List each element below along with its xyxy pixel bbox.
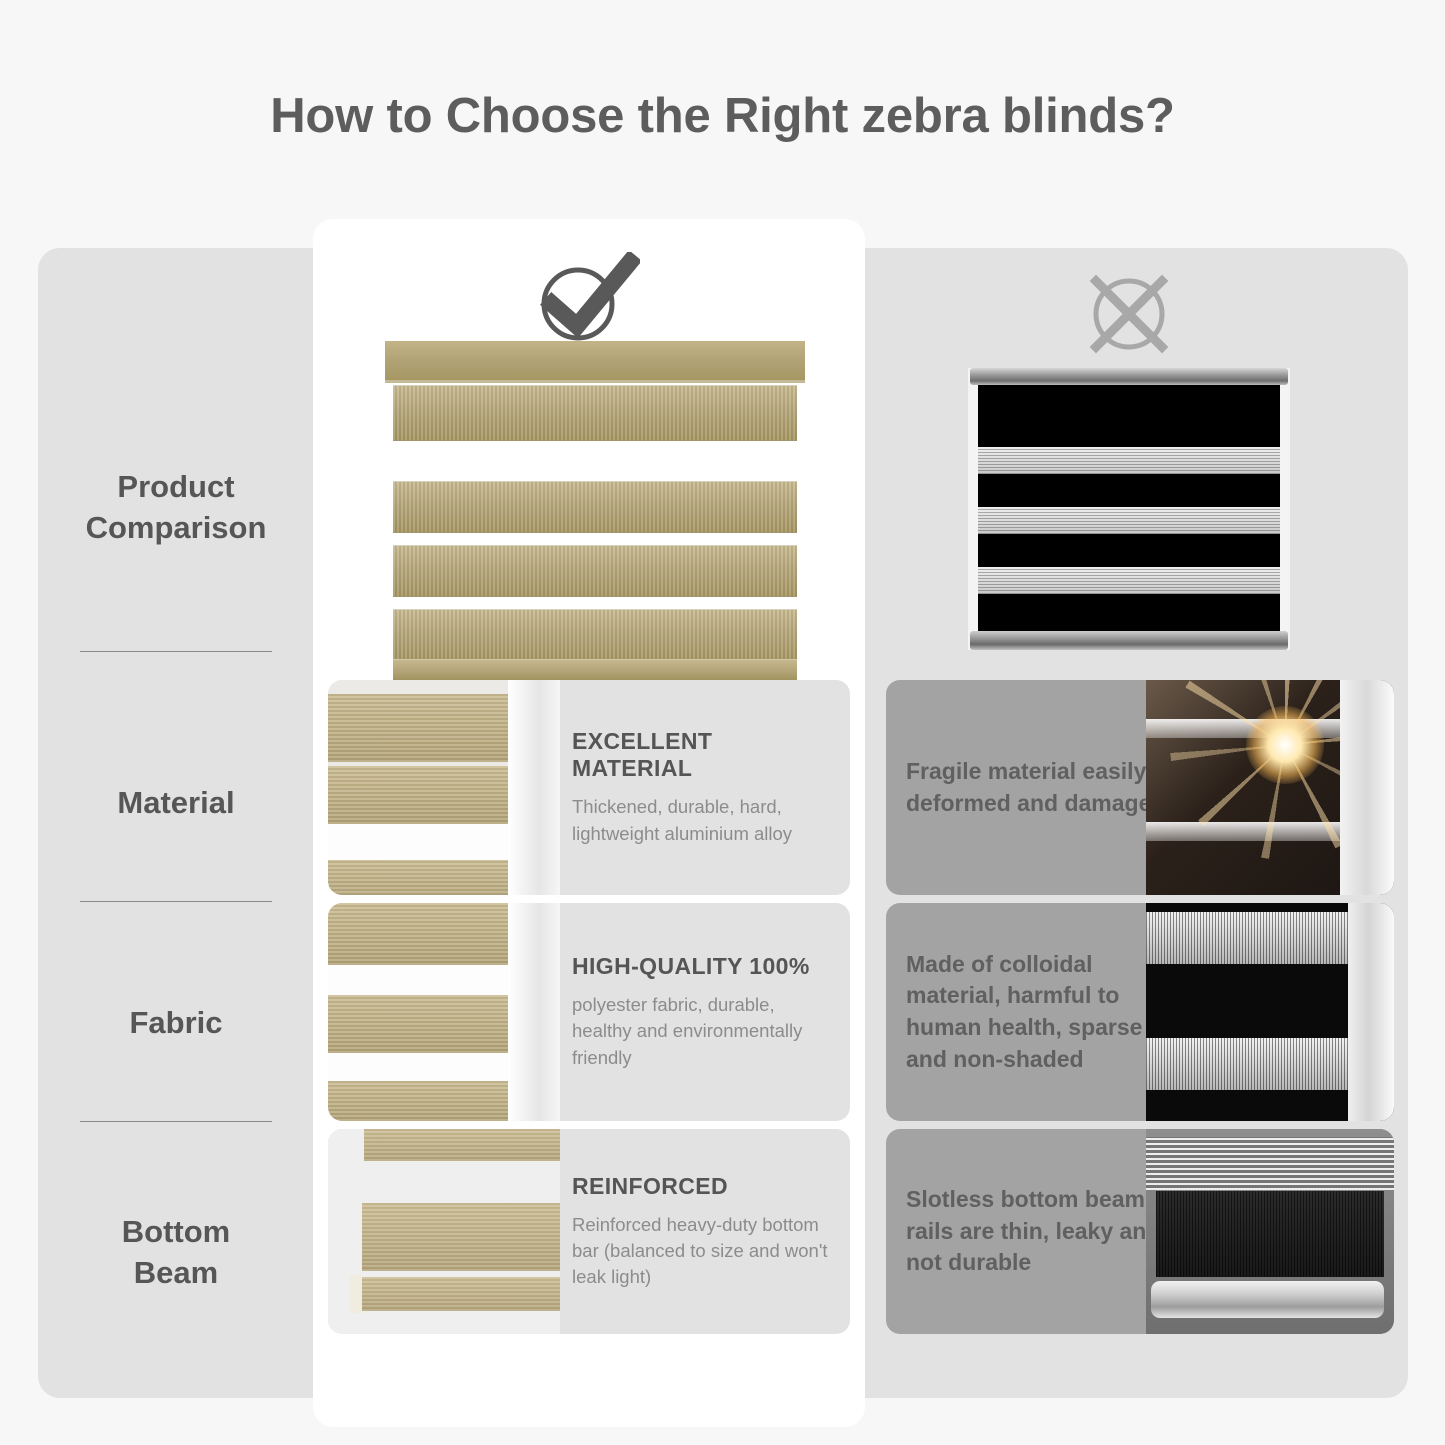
feature-body: Thickened, durable, hard, lightweight al…: [572, 794, 836, 847]
blind-slat: [328, 995, 514, 1053]
row-divider: [80, 1121, 272, 1122]
row-divider: [80, 651, 272, 652]
row-label-column: Product Comparison Material Fabric Botto…: [38, 248, 314, 1398]
window-scene: [328, 680, 560, 895]
good-bottom-beam-image: [328, 1129, 560, 1334]
good-feature-material: EXCELLENT MATERIAL Thickened, durable, h…: [328, 680, 850, 895]
good-bottom-beam-text: REINFORCED Reinforced heavy-duty bottom …: [572, 1129, 836, 1334]
blind-headrail: [970, 368, 1288, 385]
row-label-line1: Product: [86, 467, 267, 508]
blind-fabric-body: [1156, 1191, 1384, 1277]
blind-slat: [328, 1081, 514, 1121]
cross-circle-icon: [1082, 268, 1177, 360]
blind-slat: [362, 1203, 560, 1271]
row-label-bottom-beam: Bottom Beam: [38, 1178, 314, 1328]
sheer-gap: [328, 1053, 518, 1081]
bad-fabric-text: Made of colloidal material, harmful to h…: [906, 903, 1176, 1121]
feature-heading: REINFORCED: [572, 1173, 836, 1200]
sun-flare-scene: [1146, 680, 1394, 895]
feature-heading: HIGH-QUALITY 100%: [572, 953, 836, 980]
bottom-bar-scene: [328, 1129, 560, 1334]
bad-material-image: [1146, 680, 1394, 895]
thin-rail-scene: [1146, 1129, 1394, 1334]
blind-headrail: [385, 341, 805, 383]
bad-bottom-beam-image: [1146, 1129, 1394, 1334]
bad-feature-material: Fragile material easily deformed and dam…: [886, 680, 1394, 895]
sheer-fabric-scene: [1146, 903, 1394, 1121]
row-divider: [80, 901, 272, 902]
good-hero-blind-image: [385, 341, 805, 673]
good-feature-fabric: HIGH-QUALITY 100% polyester fabric, dura…: [328, 903, 850, 1121]
bad-material-text: Fragile material easily deformed and dam…: [906, 680, 1176, 895]
bottom-bar-end-cap: [350, 1275, 362, 1313]
blind-slat: [328, 903, 514, 965]
row-label-line2: Beam: [122, 1253, 230, 1294]
sun-core-icon: [1246, 706, 1324, 784]
row-label-line2: Comparison: [86, 508, 267, 549]
row-label-fabric: Fabric: [38, 968, 314, 1078]
window-frame: [508, 680, 560, 895]
feature-body: polyester fabric, durable, healthy and e…: [572, 992, 836, 1071]
blind-slat: [393, 609, 797, 661]
bad-fabric-image: [1146, 903, 1394, 1121]
row-label-line1: Bottom: [122, 1212, 230, 1253]
blind-bottom-bar: [358, 1277, 560, 1311]
sheer-gap: [328, 824, 518, 860]
bad-bottom-beam-text: Slotless bottom beam rails are thin, lea…: [906, 1129, 1176, 1334]
blind-slat: [328, 766, 514, 824]
blind-slat: [328, 860, 514, 895]
blind-fabric-body: [978, 385, 1280, 631]
sheer-stripe: [978, 567, 1280, 594]
feature-heading: EXCELLENT MATERIAL: [572, 728, 836, 782]
window-scene: [328, 903, 560, 1121]
good-fabric-image: [328, 903, 560, 1121]
bad-feature-fabric: Made of colloidal material, harmful to h…: [886, 903, 1394, 1121]
good-fabric-text: HIGH-QUALITY 100% polyester fabric, dura…: [572, 903, 836, 1121]
blind-slat: [393, 481, 797, 533]
infographic-page: How to Choose the Right zebra blinds? Pr…: [0, 0, 1445, 1445]
row-label-material: Material: [38, 748, 314, 858]
check-circle-icon: [530, 252, 640, 347]
row-label-product-comparison: Product Comparison: [38, 418, 314, 598]
feature-body: Reinforced heavy-duty bottom bar (balanc…: [572, 1212, 836, 1291]
bad-feature-bottom-beam: Slotless bottom beam rails are thin, lea…: [886, 1129, 1394, 1334]
window-frame: [1340, 680, 1394, 895]
blind-slat: [328, 694, 514, 762]
blind-slat: [393, 385, 797, 441]
sheer-stripe: [978, 447, 1280, 474]
blind-bottom-bar: [393, 659, 797, 681]
good-material-text: EXCELLENT MATERIAL Thickened, durable, h…: [572, 680, 836, 895]
blind-bottom-rail: [1151, 1281, 1384, 1318]
window-frame: [1348, 903, 1394, 1121]
blind-slat: [393, 545, 797, 597]
bad-hero-blind-image: [968, 368, 1290, 650]
good-feature-bottom-beam: REINFORCED Reinforced heavy-duty bottom …: [328, 1129, 850, 1334]
page-title: How to Choose the Right zebra blinds?: [0, 88, 1445, 144]
sheer-stripe: [1146, 1137, 1394, 1190]
sheer-gap: [328, 965, 518, 995]
good-material-image: [328, 680, 560, 895]
sheer-stripe: [978, 507, 1280, 534]
window-frame: [508, 903, 560, 1121]
blind-bottom-rail: [970, 631, 1288, 650]
blind-slat: [364, 1129, 560, 1161]
